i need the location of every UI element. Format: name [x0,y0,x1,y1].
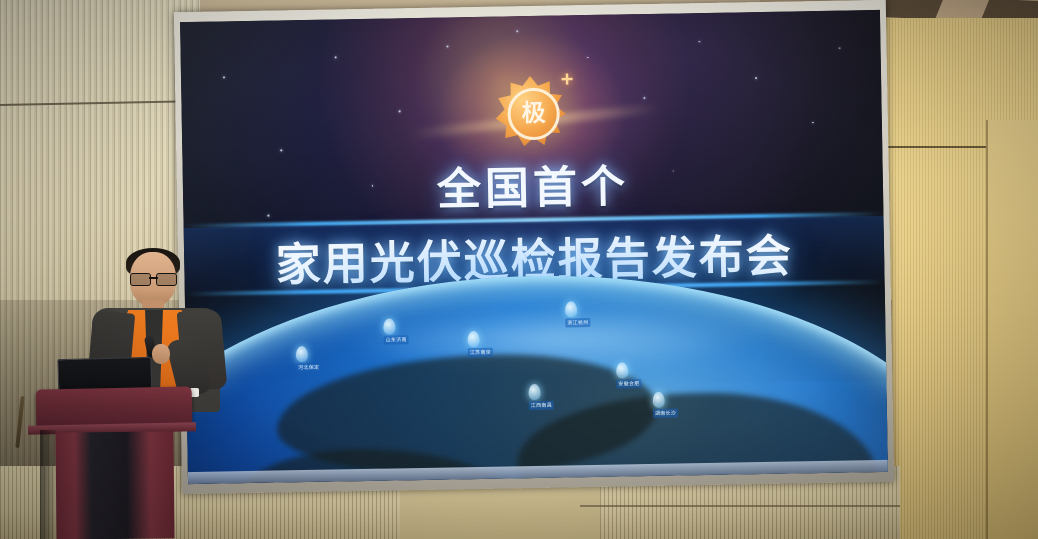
presenter-hand [152,344,170,364]
lower-wall-seam [580,505,900,507]
podium-side-shadow [40,430,56,539]
map-pin-icon [565,301,577,317]
glasses-left-lens [130,273,151,286]
map-pin-label: 山东济南 [384,335,409,344]
glasses-right-lens [156,273,177,286]
map-pin: 江西南昌 [528,384,554,410]
slide-title-line1: 全国首个 [182,146,883,222]
map-pin: 浙江杭州 [565,301,591,327]
map-pin-icon [528,384,540,400]
presentation-slide: 极 + 全国首个 家用光伏巡检报告发布会 2018.1.31 | 河北 · 保定 [180,10,888,484]
map-pin-label: 安徽合肥 [616,379,641,388]
map-pin-label: 江西南昌 [529,401,554,410]
map-pin: 安徽合肥 [616,362,642,388]
map-pin-label: 河北保定 [296,363,321,372]
podium-top [36,386,193,427]
projection-screen: 极 + 全国首个 家用光伏巡检报告发布会 2018.1.31 | 河北 · 保定 [180,10,888,484]
map-pin-icon [383,318,395,334]
slide-title-block: 全国首个 家用光伏巡检报告发布会 [182,146,884,296]
map-pin-icon [467,331,479,347]
slide-badge: 极 + [471,59,593,157]
glasses-icon [130,273,177,284]
map-pin-label: 湖南长沙 [653,409,678,418]
map-pin: 湖南长沙 [653,392,679,418]
right-wall-edge-panel [986,120,1038,539]
map-pin-icon [616,362,628,378]
map-pin-icon [653,392,665,408]
map-pin: 山东济南 [383,318,409,344]
conference-hall-photo: 极 + 全国首个 家用光伏巡检报告发布会 2018.1.31 | 河北 · 保定 [0,0,1038,539]
map-pin-label: 江苏南京 [468,348,493,357]
projection-screen-frame: 极 + 全国首个 家用光伏巡检报告发布会 2018.1.31 | 河北 · 保定 [174,0,894,494]
map-pin: 河北保定 [296,346,322,372]
podium-body [55,431,174,539]
map-pin-label: 浙江杭州 [565,318,590,327]
plus-icon: + [557,69,577,89]
map-pin: 江苏南京 [467,331,493,357]
map-pin-icon [296,346,308,362]
